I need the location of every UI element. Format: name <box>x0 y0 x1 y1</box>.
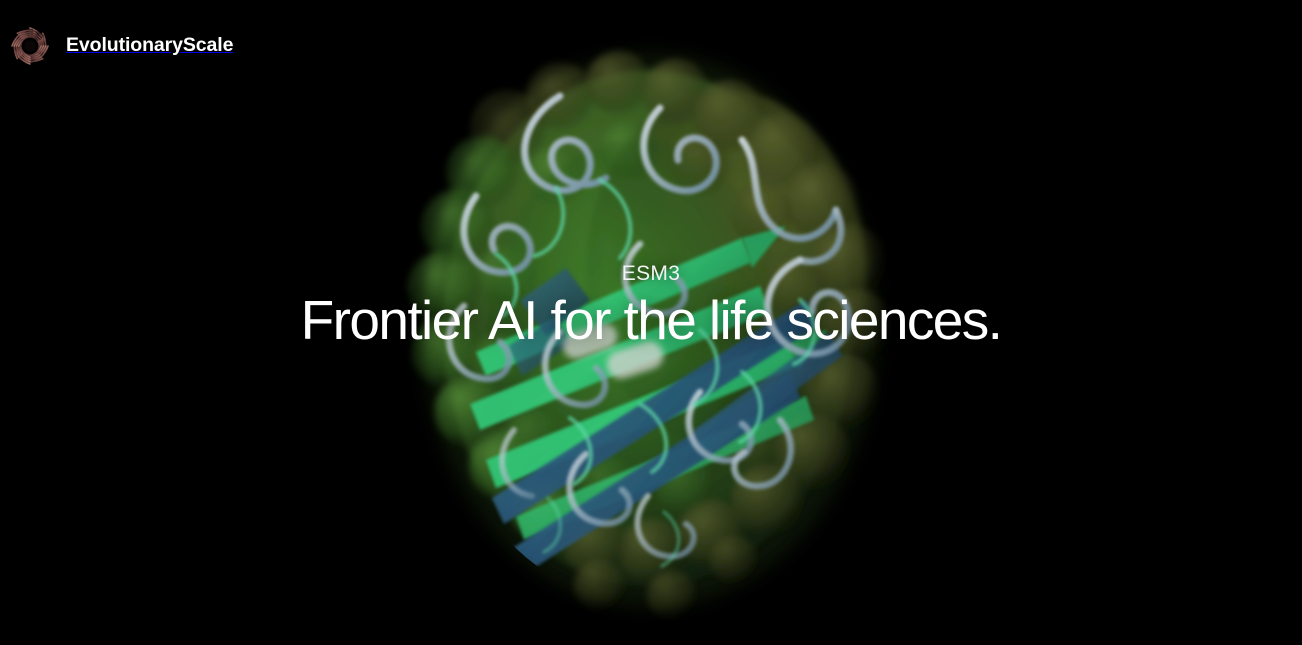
protein-ribbons <box>449 96 848 582</box>
hero-copy: ESM3 Frontier AI for the life sciences. <box>0 262 1302 352</box>
hero-eyebrow-esm3: ESM3 <box>0 262 1302 286</box>
esm3-protein-structure-render <box>0 0 1302 645</box>
loop-tubes <box>449 96 848 556</box>
hero-headline: Frontier AI for the life sciences. <box>0 290 1302 352</box>
protein-ambient-glow <box>418 50 882 610</box>
hero-page: EvolutionaryScale ESM3 Frontier AI for t… <box>0 0 1302 645</box>
brand-name: EvolutionaryScale <box>66 36 233 56</box>
evolutionaryscale-pinwheel-logo-icon <box>6 22 54 70</box>
beta-sheet-green <box>470 226 828 540</box>
beta-sheet-blue <box>492 268 842 582</box>
highlight-patch <box>559 320 667 382</box>
loop-tubes-teal <box>496 180 814 566</box>
brand-home-link[interactable]: EvolutionaryScale <box>6 22 233 70</box>
molecular-surface <box>407 50 893 621</box>
